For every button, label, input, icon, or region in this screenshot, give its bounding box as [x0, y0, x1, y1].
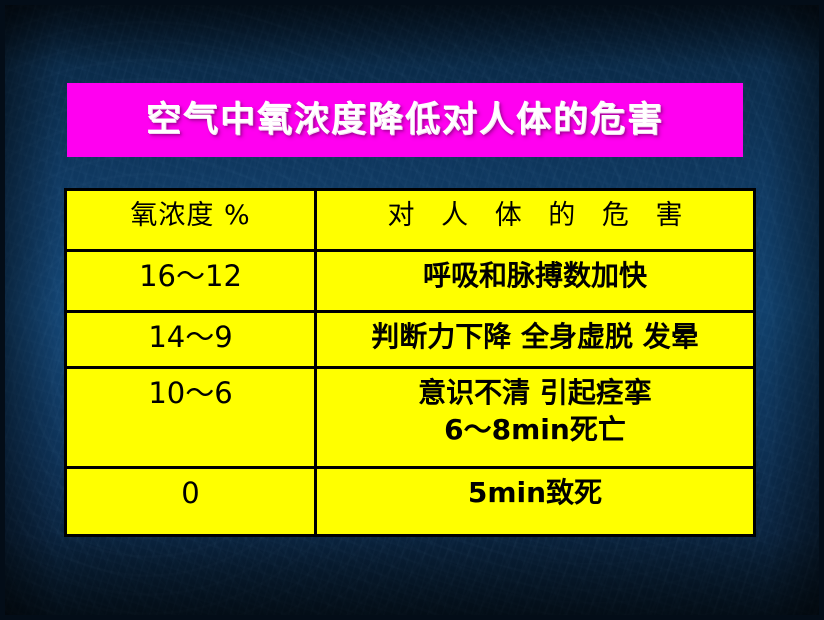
- cell-concentration: 16～12: [66, 251, 316, 312]
- cell-hazard: 呼吸和脉搏数加快: [316, 251, 755, 312]
- hazard-value: 意识不清 引起痉挛 6～8min死亡: [317, 369, 753, 452]
- hazard-line-1: 判断力下降 全身虚脱 发晕: [371, 320, 699, 353]
- table-header-concentration-label: 氧浓度 %: [67, 191, 314, 238]
- oxygen-hazard-table: 氧浓度 % 对 人 体 的 危 害 16～12 呼吸和脉搏数加快 1: [64, 188, 756, 537]
- title-banner: 空气中氧浓度降低对人体的危害: [67, 83, 743, 157]
- concentration-value: 16～12: [67, 252, 314, 299]
- table-header-hazard: 对 人 体 的 危 害: [316, 190, 755, 251]
- table-row: 14～9 判断力下降 全身虚脱 发晕: [66, 312, 755, 368]
- concentration-value: 0: [67, 469, 314, 516]
- cell-hazard: 5min致死: [316, 468, 755, 536]
- table-header-concentration: 氧浓度 %: [66, 190, 316, 251]
- cell-concentration: 0: [66, 468, 316, 536]
- slide-title: 空气中氧浓度降低对人体的危害: [146, 103, 664, 138]
- hazard-line-1: 呼吸和脉搏数加快: [423, 259, 647, 292]
- concentration-value: 14～9: [67, 313, 314, 360]
- hazard-value: 5min致死: [317, 469, 753, 515]
- hazard-line-1: 5min致死: [468, 476, 602, 509]
- cell-concentration: 14～9: [66, 312, 316, 368]
- cell-hazard: 判断力下降 全身虚脱 发晕: [316, 312, 755, 368]
- table-header-row: 氧浓度 % 对 人 体 的 危 害: [66, 190, 755, 251]
- hazard-line-2: 6～8min死亡: [317, 413, 753, 446]
- cell-hazard: 意识不清 引起痉挛 6～8min死亡: [316, 368, 755, 468]
- table-row: 16～12 呼吸和脉搏数加快: [66, 251, 755, 312]
- presentation-slide: 空气中氧浓度降低对人体的危害 氧浓度 % 对 人 体 的 危 害 16～12: [0, 0, 824, 620]
- table-row: 0 5min致死: [66, 468, 755, 536]
- table-header-hazard-label: 对 人 体 的 危 害: [317, 191, 753, 238]
- table-row: 10～6 意识不清 引起痉挛 6～8min死亡: [66, 368, 755, 468]
- cell-concentration: 10～6: [66, 368, 316, 468]
- hazard-line-1: 意识不清 引起痉挛: [418, 376, 652, 409]
- concentration-value: 10～6: [67, 369, 314, 416]
- hazard-value: 呼吸和脉搏数加快: [317, 252, 753, 298]
- hazard-value: 判断力下降 全身虚脱 发晕: [317, 313, 753, 359]
